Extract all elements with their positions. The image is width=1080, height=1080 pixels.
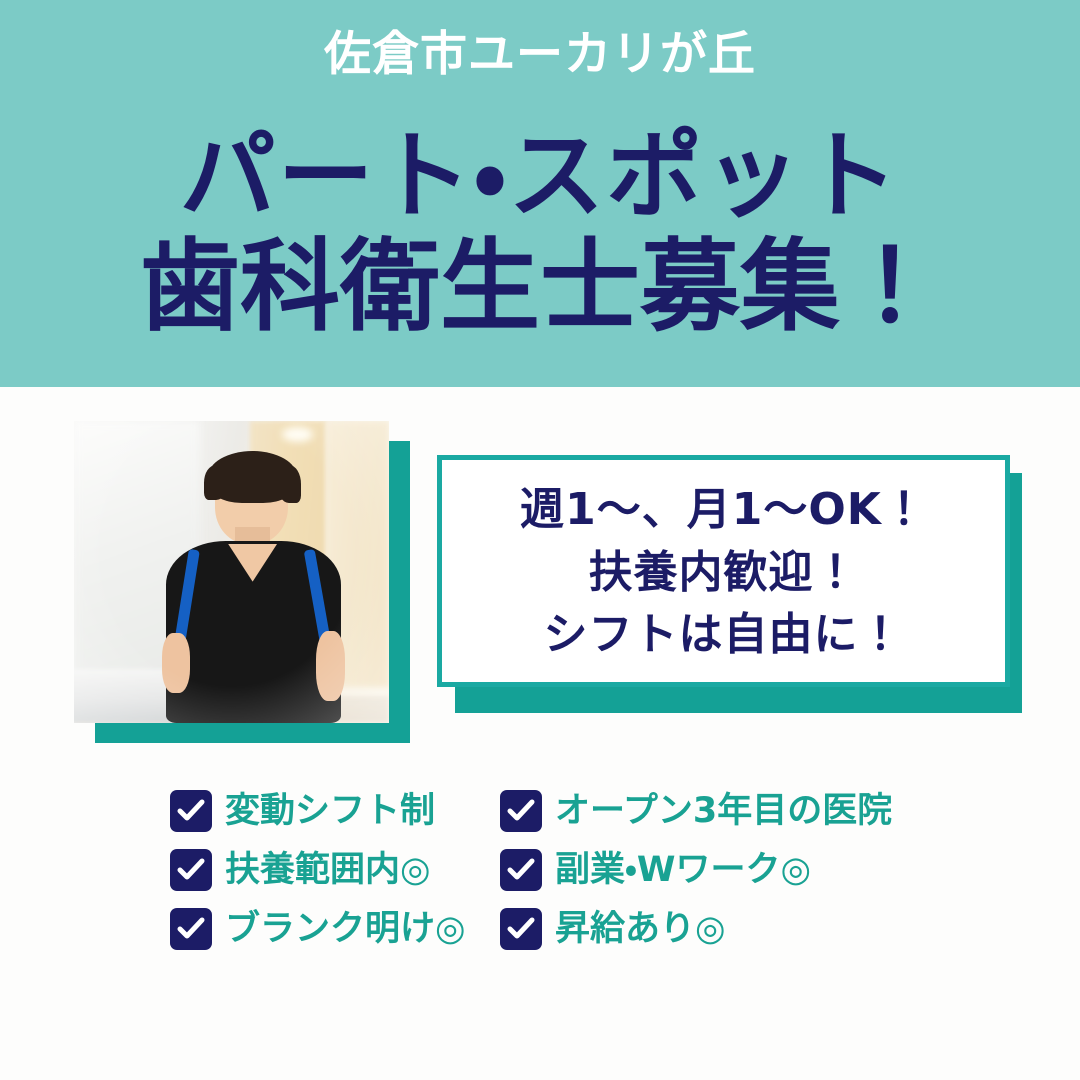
check-icon <box>500 849 542 891</box>
headline-line-1: パート・スポット <box>0 128 1080 226</box>
features-list: 変動シフト制 オープン3年目の医院 扶養範囲内◎ <box>170 790 970 967</box>
page-title: パート・スポット 歯科衛生士募集！ <box>0 128 1080 338</box>
feature-row: 変動シフト制 オープン3年目の医院 <box>170 790 970 832</box>
feature-label: 副業・Wワーク◎ <box>555 849 811 891</box>
feature-item: 副業・Wワーク◎ <box>500 849 970 891</box>
staff-photo-block <box>74 421 410 743</box>
feature-label: ブランク明け◎ <box>225 908 466 950</box>
check-icon <box>500 790 542 832</box>
feature-label: 扶養範囲内◎ <box>225 849 431 891</box>
location-eyebrow: 佐倉市ユーカリが丘 <box>0 28 1080 82</box>
feature-label: 昇給あり◎ <box>555 908 726 950</box>
feature-item: 変動シフト制 <box>170 790 500 832</box>
conditions-block: 週1〜、月1〜OK！ 扶養内歓迎！ シフトは自由に！ <box>437 455 1022 713</box>
condition-line-1: 週1〜、月1〜OK！ <box>520 479 927 541</box>
feature-item: 昇給あり◎ <box>500 908 970 950</box>
header-band: 佐倉市ユーカリが丘 パート・スポット 歯科衛生士募集！ <box>0 0 1080 387</box>
feature-row: ブランク明け◎ 昇給あり◎ <box>170 908 970 950</box>
photo-vignette <box>74 421 389 723</box>
condition-line-2: 扶養内歓迎！ <box>589 542 859 604</box>
feature-item: オープン3年目の医院 <box>500 790 970 832</box>
feature-label: オープン3年目の医院 <box>555 790 892 832</box>
check-icon <box>170 790 212 832</box>
condition-line-3: シフトは自由に！ <box>544 604 904 666</box>
check-icon <box>170 908 212 950</box>
conditions-box: 週1〜、月1〜OK！ 扶養内歓迎！ シフトは自由に！ <box>437 455 1010 687</box>
staff-photo <box>74 421 389 723</box>
recruitment-poster: 佐倉市ユーカリが丘 パート・スポット 歯科衛生士募集！ <box>0 0 1080 1080</box>
feature-row: 扶養範囲内◎ 副業・Wワーク◎ <box>170 849 970 891</box>
feature-item: 扶養範囲内◎ <box>170 849 500 891</box>
check-icon <box>170 849 212 891</box>
feature-item: ブランク明け◎ <box>170 908 500 950</box>
headline-line-2: 歯科衛生士募集！ <box>0 236 1080 338</box>
check-icon <box>500 908 542 950</box>
feature-label: 変動シフト制 <box>225 790 435 832</box>
photo-frame <box>74 421 389 723</box>
